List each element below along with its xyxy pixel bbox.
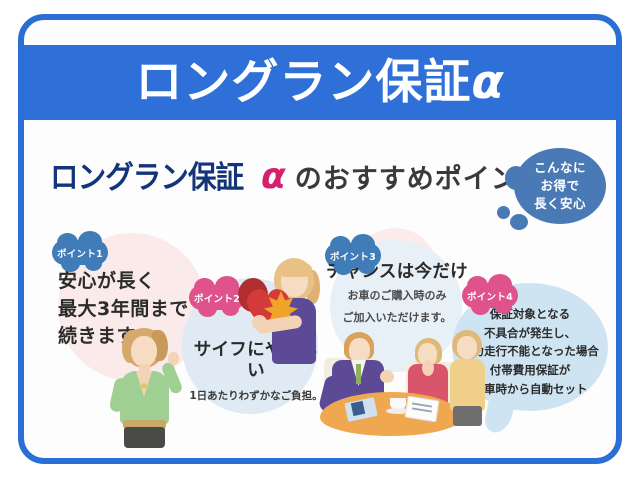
point4-badge-label: ポイント4 (467, 289, 513, 303)
point1-headline-line-1: 安心が長く (58, 268, 189, 296)
point2-badge-label: ポイント2 (194, 291, 240, 305)
top-bubble-line-2: お得で (540, 177, 579, 195)
point3-note-line-1: お車のご購入時のみ (322, 288, 472, 305)
warranty-poster: ロングラン保証α ロングラン保証 α のおすすめポイント こんなに お得で 長く… (0, 0, 640, 480)
header-title-alpha: α (471, 55, 504, 110)
point2-badge: ポイント2 (189, 285, 245, 310)
header-title-text: ロングラン保証 (135, 55, 471, 110)
woman-pointing-illustration (108, 328, 180, 446)
point1-headline-line-2: 最大3年間まで (58, 296, 189, 324)
point3-note-line-2: ご加入いただけます。 (322, 310, 472, 327)
top-bubble-line-1: こんなに (534, 159, 586, 177)
woman-with-heart-illustration (236, 258, 322, 366)
point1-badge-label: ポイント1 (57, 246, 103, 260)
woman-standing-right-illustration (444, 330, 492, 426)
point1-badge: ポイント1 (52, 240, 108, 265)
top-speech-bubble: こんなに お得で 長く安心 (514, 148, 606, 224)
top-bubble-line-3: 長く安心 (534, 195, 586, 213)
poster-header-band: ロングラン保証α (24, 45, 616, 120)
subtitle-brand: ロングラン保証 (50, 152, 243, 197)
top-bubble-tail-dot (497, 206, 510, 219)
point3-badge-label: ポイント3 (330, 249, 376, 263)
couple-at-table-illustration (318, 330, 464, 436)
point4-badge: ポイント4 (462, 283, 518, 308)
header-title: ロングラン保証α (135, 59, 504, 106)
point2-note: 1日あたりわずかなご負担。 (186, 388, 326, 403)
subtitle-alpha: α (261, 156, 286, 197)
subtitle-line: ロングラン保証 α のおすすめポイント (50, 152, 547, 197)
